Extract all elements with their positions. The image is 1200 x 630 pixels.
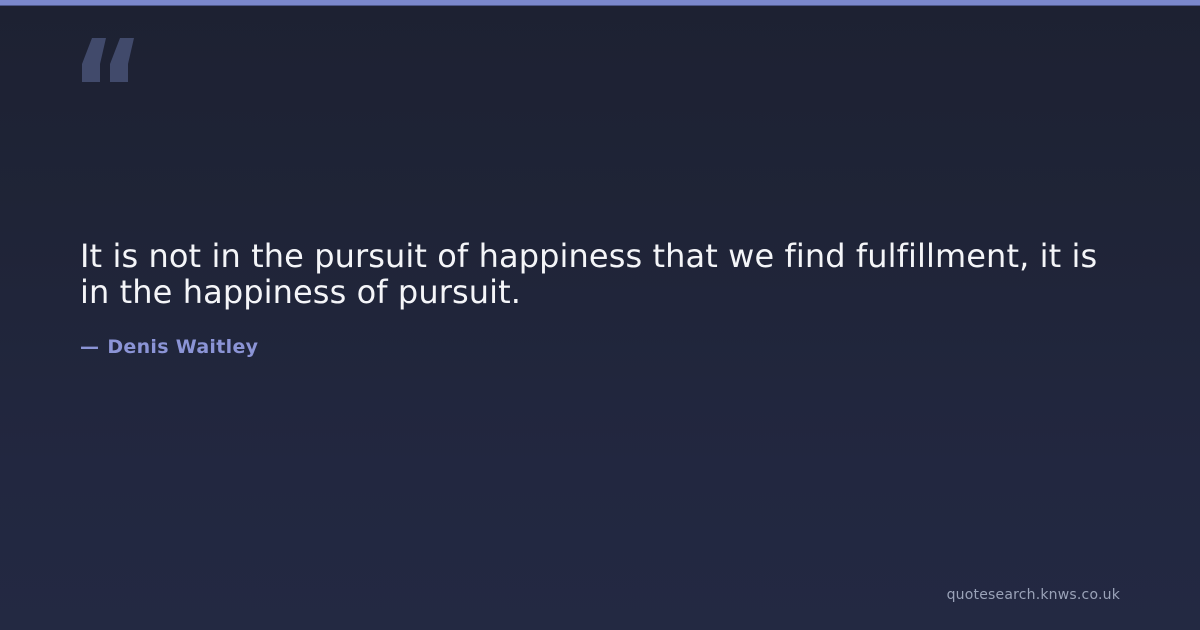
quote-block: It is not in the pursuit of happiness th… [80, 238, 1120, 359]
quote-attribution: —Denis Waitley [80, 310, 1120, 359]
attribution-dash: — [80, 335, 107, 359]
quote-text: It is not in the pursuit of happiness th… [80, 238, 1120, 310]
site-url-label: quotesearch.knws.co.uk [947, 586, 1120, 604]
double-quote-icon [78, 34, 138, 86]
top-accent-bar [0, 0, 1200, 6]
attribution-author: Denis Waitley [107, 336, 258, 358]
quote-card: It is not in the pursuit of happiness th… [0, 0, 1200, 630]
